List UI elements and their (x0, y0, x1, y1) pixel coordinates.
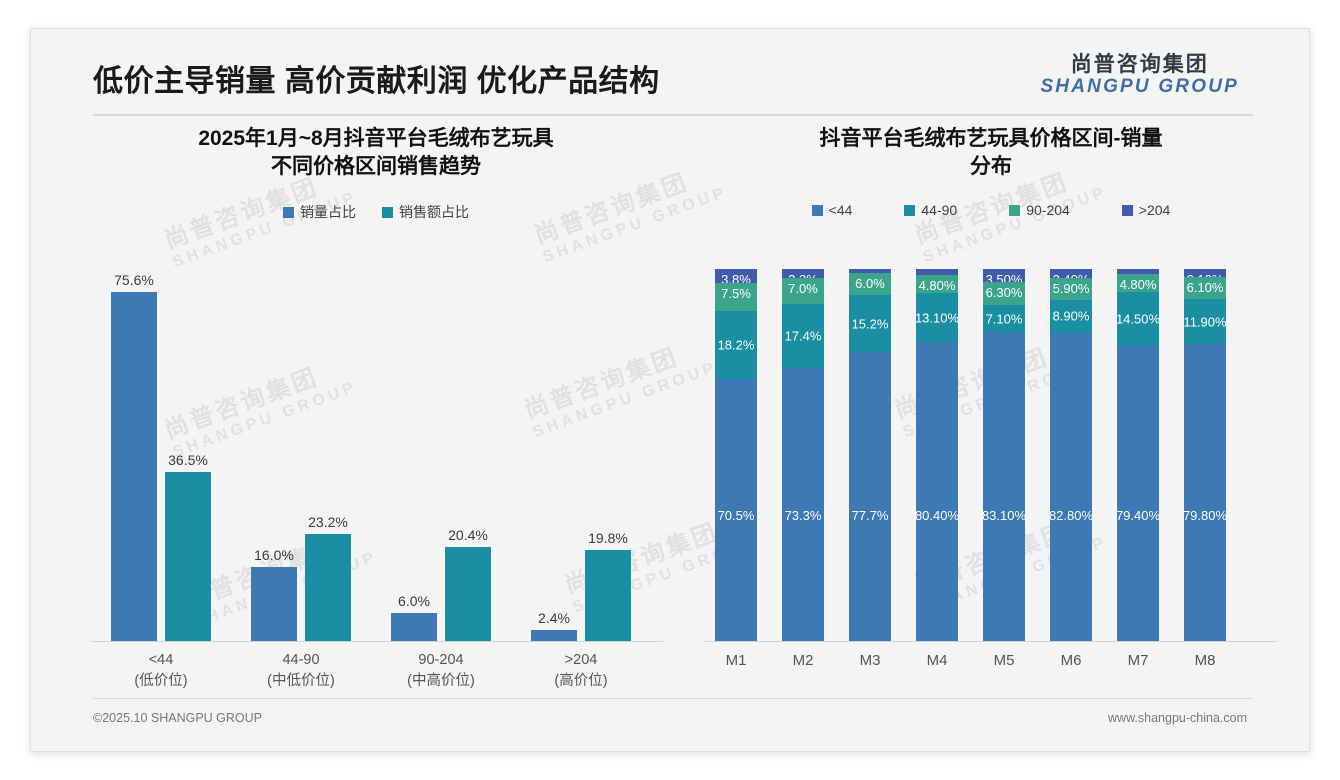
footer-copyright: ©2025.10 SHANGPU GROUP (93, 711, 262, 725)
left-chart-legend: 销量占比 销售额占比 (71, 202, 681, 222)
bar-slot: 19.8% (585, 269, 631, 641)
logo-chinese-text: 尚普咨询集团 (1040, 54, 1239, 76)
left-grouped-bar-chart: 75.6% 36.5% 16.0% 23.2% (71, 270, 681, 690)
segment-value-label: 73.3% (785, 508, 822, 523)
segment-90-204[interactable]: 6.0% (849, 273, 891, 295)
legend-label: <44 (829, 202, 853, 218)
slide-canvas: 尚普咨询集团 SHANGPU GROUP 尚普咨询集团 SHANGPU GROU… (30, 28, 1310, 752)
legend-label: 44-90 (921, 202, 957, 218)
bar-group: 6.0% 20.4% (371, 269, 511, 641)
footer-website[interactable]: www.shangpu-china.com (1108, 711, 1247, 725)
x-axis-label-m6: M6 (1050, 652, 1092, 669)
stacked-bar-column[interactable]: 1.40% 4.80% 14.50% 79.40% (1117, 269, 1159, 641)
segment-lt44[interactable]: 83.10% (983, 332, 1025, 641)
segment-value-label: 77.7% (852, 508, 889, 523)
slide-header: 低价主导销量 高价贡献利润 优化产品结构 尚普咨询集团 SHANGPU GROU… (31, 29, 1309, 117)
x-axis-label-sub: (高价位) (511, 671, 651, 692)
right-chart-legend: <44 44-90 90-204 >204 (691, 202, 1291, 218)
bar-volume-share[interactable] (111, 292, 157, 641)
bar-volume-share[interactable] (531, 630, 577, 641)
segment-44-90[interactable]: 14.50% (1117, 292, 1159, 346)
bar-value-label: 6.0% (398, 593, 430, 609)
x-axis-line (705, 641, 1277, 642)
x-axis-label-m2: M2 (782, 652, 824, 669)
stacked-bar-column[interactable]: 1.70% 4.80% 13.10% 80.40% (916, 269, 958, 641)
bar-value-label: 75.6% (114, 272, 154, 288)
segment-value-label: 3.8% (721, 272, 751, 283)
legend-label: 销量占比 (300, 202, 356, 222)
segment-90-204[interactable]: 7.5% (715, 283, 757, 311)
bar-group: 75.6% 36.5% (91, 269, 231, 641)
x-axis-label-sub: (中低价位) (231, 671, 371, 692)
bar-value-label: 23.2% (308, 514, 348, 530)
left-plot-area: 75.6% 36.5% 16.0% 23.2% (91, 270, 663, 642)
segment-gt204[interactable]: 3.8% (715, 269, 757, 283)
x-axis-label-m4: M4 (916, 652, 958, 669)
legend-swatch-icon (904, 205, 915, 216)
segment-90-204[interactable]: 7.0% (782, 278, 824, 304)
right-chart-title: 抖音平台毛绒布艺玩具价格区间-销量 分布 (691, 125, 1291, 180)
bar-slot: 20.4% (445, 269, 491, 641)
left-chart-title: 2025年1月~8月抖音平台毛绒布艺玩具 不同价格区间销售趋势 (71, 125, 681, 180)
bar-amount-share[interactable] (585, 550, 631, 641)
segment-value-label: 7.0% (788, 281, 818, 296)
title-divider (93, 114, 1253, 116)
segment-lt44[interactable]: 70.5% (715, 379, 757, 641)
segment-90-204[interactable]: 6.10% (1184, 277, 1226, 300)
x-axis-label-sub: (中高价位) (371, 671, 511, 692)
bar-value-label: 36.5% (168, 452, 208, 468)
x-axis-label-m1: M1 (715, 652, 757, 669)
right-chart-panel: 抖音平台毛绒布艺玩具价格区间-销量 分布 <44 44-90 90-204 >2… (691, 125, 1291, 705)
segment-44-90[interactable]: 17.4% (782, 304, 824, 369)
x-axis-label-m3: M3 (849, 652, 891, 669)
segment-lt44[interactable]: 82.80% (1050, 333, 1092, 641)
segment-44-90[interactable]: 7.10% (983, 305, 1025, 331)
x-axis-line (91, 641, 663, 642)
bar-slot: 75.6% (111, 269, 157, 641)
segment-value-label: 70.5% (718, 508, 755, 523)
segment-value-label: 6.10% (1187, 280, 1224, 295)
x-axis-label-main: 44-90 (231, 650, 371, 671)
left-chart-panel: 2025年1月~8月抖音平台毛绒布艺玩具 不同价格区间销售趋势 销量占比 销售额… (71, 125, 681, 705)
segment-lt44[interactable]: 77.7% (849, 352, 891, 641)
stacked-bar-column[interactable]: 3.8% 7.5% 18.2% 70.5% (715, 269, 757, 641)
segment-value-label: 6.30% (986, 285, 1023, 300)
legend-swatch-icon (812, 205, 823, 216)
legend-label: 销售额占比 (399, 202, 469, 222)
segment-value-label: 4.80% (919, 278, 956, 293)
segment-value-label: 7.10% (986, 311, 1023, 326)
segment-gt204[interactable]: 3.50% (983, 269, 1025, 282)
bar-volume-share[interactable] (391, 613, 437, 641)
stacked-bar-column[interactable]: 2.10% 6.10% 11.90% 79.80% (1184, 269, 1226, 641)
bar-value-label: 16.0% (254, 547, 294, 563)
segment-lt44[interactable]: 80.40% (916, 342, 958, 641)
legend-swatch-icon (1009, 205, 1020, 216)
bar-value-label: 20.4% (448, 527, 488, 543)
segment-value-label: 14.50% (1117, 311, 1159, 326)
legend-item-lt44[interactable]: <44 (812, 202, 853, 218)
right-stacked-bar-chart: 3.8% 7.5% 18.2% 70.5% 2.3% (691, 270, 1291, 690)
x-axis-label-m7: M7 (1117, 652, 1159, 669)
right-chart-title-line2: 分布 (709, 153, 1273, 181)
segment-44-90[interactable]: 11.90% (1184, 299, 1226, 343)
legend-item-volume-share[interactable]: 销量占比 (283, 202, 356, 222)
segment-lt44[interactable]: 73.3% (782, 368, 824, 641)
segment-90-204[interactable]: 5.90% (1050, 278, 1092, 300)
segment-value-label: 80.40% (916, 508, 958, 523)
x-axis-label: 44-90 (中低价位) (231, 650, 371, 692)
segment-44-90[interactable]: 13.10% (916, 293, 958, 342)
bar-slot: 16.0% (251, 269, 297, 641)
x-axis-label: >204 (高价位) (511, 650, 651, 692)
x-axis-label-main: >204 (511, 650, 651, 671)
bar-amount-share[interactable] (305, 534, 351, 641)
segment-value-label: 15.2% (852, 316, 889, 331)
segment-value-label: 82.80% (1050, 508, 1092, 523)
left-chart-title-line1: 2025年1月~8月抖音平台毛绒布艺玩具 (89, 125, 663, 153)
legend-swatch-icon (382, 207, 393, 218)
right-chart-title-line1: 抖音平台毛绒布艺玩具价格区间-销量 (709, 125, 1273, 153)
legend-swatch-icon (1122, 205, 1133, 216)
bar-group: 16.0% 23.2% (231, 269, 371, 641)
segment-90-204[interactable]: 4.80% (916, 275, 958, 293)
legend-label: >204 (1139, 202, 1171, 218)
left-chart-title-line2: 不同价格区间销售趋势 (89, 153, 663, 181)
legend-item-amount-share[interactable]: 销售额占比 (382, 202, 469, 222)
bar-amount-share[interactable] (445, 547, 491, 641)
segment-value-label: 6.0% (855, 276, 885, 291)
legend-swatch-icon (283, 207, 294, 218)
segment-value-label: 8.90% (1053, 309, 1090, 324)
segment-90-204[interactable]: 4.80% (1117, 274, 1159, 292)
segment-lt44[interactable]: 79.80% (1184, 344, 1226, 641)
segment-value-label: 13.10% (916, 310, 958, 325)
legend-item-44-90[interactable]: 44-90 (904, 202, 957, 218)
segment-44-90[interactable]: 15.2% (849, 295, 891, 352)
segment-lt44[interactable]: 79.40% (1117, 346, 1159, 641)
bar-slot: 36.5% (165, 269, 211, 641)
legend-item-90-204[interactable]: 90-204 (1009, 202, 1070, 218)
segment-gt204[interactable]: 2.10% (1184, 269, 1226, 277)
x-axis-label-main: 90-204 (371, 650, 511, 671)
stacked-bar-column[interactable]: 2.40% 5.90% 8.90% 82.80% (1050, 269, 1092, 641)
segment-value-label: 7.5% (721, 286, 751, 301)
segment-90-204[interactable]: 6.30% (983, 282, 1025, 305)
x-axis-label: <44 (低价位) (91, 650, 231, 692)
logo-english-text: SHANGPU GROUP (1040, 77, 1239, 97)
x-axis-label-m8: M8 (1184, 652, 1226, 669)
bar-slot: 6.0% (391, 269, 437, 641)
segment-gt204[interactable]: 2.40% (1050, 269, 1092, 278)
x-axis-label-m5: M5 (983, 652, 1025, 669)
stacked-bar-column[interactable]: 3.50% 6.30% 7.10% 83.10% (983, 269, 1025, 641)
x-axis-label-main: <44 (91, 650, 231, 671)
bar-slot: 2.4% (531, 269, 577, 641)
segment-value-label: 83.10% (983, 508, 1025, 523)
stacked-bar-column[interactable]: 1.1% 6.0% 15.2% 77.7% (849, 269, 891, 641)
segment-value-label: 3.50% (986, 272, 1023, 282)
segment-value-label: 4.80% (1120, 277, 1157, 292)
bar-volume-share[interactable] (251, 567, 297, 641)
page-title: 低价主导销量 高价贡献利润 优化产品结构 (93, 56, 660, 100)
bar-amount-share[interactable] (165, 472, 211, 641)
segment-value-label: 11.90% (1184, 314, 1226, 329)
x-axis-label-sub: (低价位) (91, 671, 231, 692)
segment-44-90[interactable]: 8.90% (1050, 300, 1092, 333)
legend-label: 90-204 (1026, 202, 1070, 218)
brand-logo: 尚普咨询集团 SHANGPU GROUP (1040, 54, 1239, 97)
segment-gt204[interactable]: 2.3% (782, 269, 824, 278)
stacked-bar-column[interactable]: 2.3% 7.0% 17.4% 73.3% (782, 269, 824, 641)
bar-value-label: 2.4% (538, 610, 570, 626)
segment-value-label: 18.2% (718, 337, 755, 352)
bar-value-label: 19.8% (588, 530, 628, 546)
right-plot-area: 3.8% 7.5% 18.2% 70.5% 2.3% (705, 270, 1277, 642)
bar-slot: 23.2% (305, 269, 351, 641)
segment-44-90[interactable]: 18.2% (715, 311, 757, 379)
segment-value-label: 17.4% (785, 328, 822, 343)
legend-item-gt204[interactable]: >204 (1122, 202, 1171, 218)
segment-value-label: 79.40% (1117, 508, 1159, 523)
segment-value-label: 5.90% (1053, 281, 1090, 296)
bar-group: 2.4% 19.8% (511, 269, 651, 641)
segment-value-label: 79.80% (1184, 508, 1226, 523)
x-axis-label: 90-204 (中高价位) (371, 650, 511, 692)
